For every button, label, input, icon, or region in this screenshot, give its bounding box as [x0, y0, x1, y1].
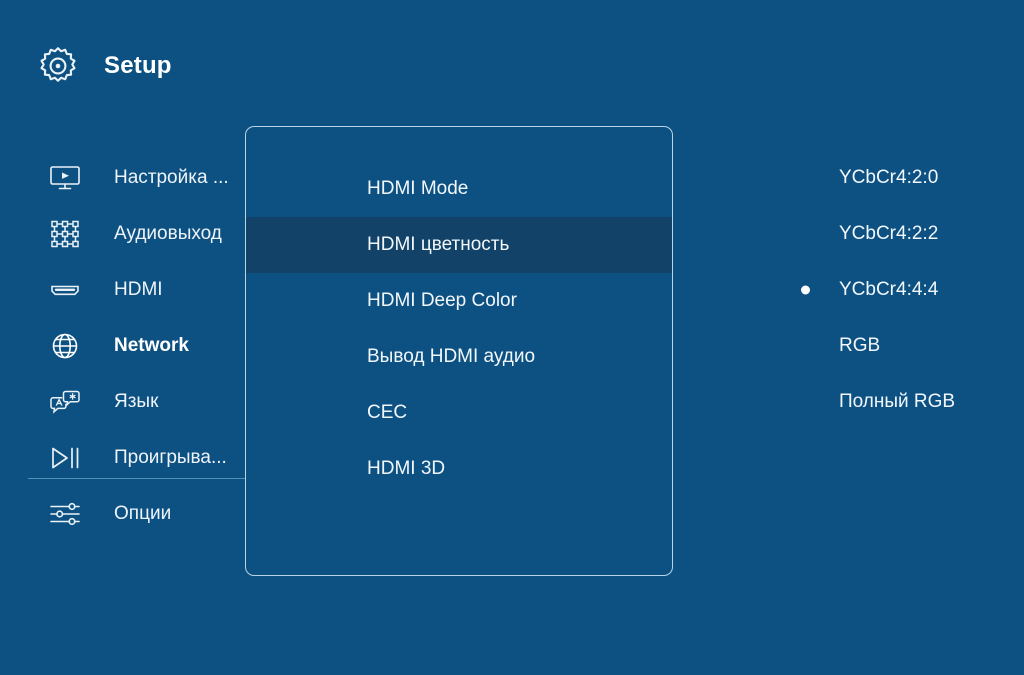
sidebar-item-label: Аудиовыход	[114, 221, 222, 247]
menu-item-cec[interactable]: CEC	[246, 385, 672, 441]
option-ycbcr-444[interactable]: YCbCr4:4:4	[673, 262, 1024, 318]
menu-item-label: HDMI Deep Color	[367, 288, 517, 314]
sidebar-item-label: Network	[114, 333, 189, 359]
sidebar-item-label: Настройка ...	[114, 165, 229, 191]
option-label: Полный RGB	[839, 389, 955, 415]
sidebar-item-label: Язык	[114, 389, 158, 415]
sidebar-item-hdmi[interactable]: HDMI	[0, 262, 246, 318]
sidebar-item-language[interactable]: Язык	[0, 374, 246, 430]
menu-item-hdmi-audio-out[interactable]: Вывод HDMI аудио	[246, 329, 672, 385]
translate-icon	[48, 387, 82, 417]
page-title: Setup	[104, 50, 172, 82]
center-menu-panel: HDMI Mode HDMI цветность HDMI Deep Color…	[245, 126, 673, 576]
menu-item-label: Вывод HDMI аудио	[367, 344, 535, 370]
menu-item-hdmi-3d[interactable]: HDMI 3D	[246, 441, 672, 497]
menu-item-label: CEC	[367, 400, 407, 426]
option-rgb[interactable]: RGB	[673, 318, 1024, 374]
menu-item-hdmi-color[interactable]: HDMI цветность	[246, 217, 672, 273]
menu-item-hdmi-deep-color[interactable]: HDMI Deep Color	[246, 273, 672, 329]
globe-icon	[48, 331, 82, 361]
options-panel: YCbCr4:2:0 YCbCr4:2:2 YCbCr4:4:4 RGB Пол…	[673, 150, 1024, 470]
hdmi-port-icon	[48, 275, 82, 305]
option-full-rgb[interactable]: Полный RGB	[673, 374, 1024, 430]
menu-item-hdmi-mode[interactable]: HDMI Mode	[246, 161, 672, 217]
sidebar-item-options[interactable]: Опции	[0, 486, 246, 542]
option-label: YCbCr4:2:0	[839, 165, 938, 191]
menu-item-label: HDMI 3D	[367, 456, 445, 482]
sidebar-item-network[interactable]: Network	[0, 318, 246, 374]
option-label: YCbCr4:2:2	[839, 221, 938, 247]
gear-icon	[34, 42, 82, 90]
radio-bullet-icon	[801, 286, 810, 295]
sidebar: Настройка ... Аудиовыход HDMI	[0, 150, 246, 580]
header: Setup	[0, 0, 1024, 130]
sidebar-item-label: HDMI	[114, 277, 163, 303]
sidebar-item-display[interactable]: Настройка ...	[0, 150, 246, 206]
option-label: RGB	[839, 333, 880, 359]
display-play-icon	[48, 163, 82, 193]
sidebar-item-playback[interactable]: Проигрыва...	[0, 430, 246, 486]
option-label: YCbCr4:4:4	[839, 277, 938, 303]
menu-item-label: HDMI цветность	[367, 232, 509, 258]
audio-matrix-icon	[48, 219, 82, 249]
option-ycbcr-420[interactable]: YCbCr4:2:0	[673, 150, 1024, 206]
setup-screen: Setup Настройка ...	[0, 0, 1024, 675]
menu-item-label: HDMI Mode	[367, 176, 468, 202]
sidebar-item-audio-output[interactable]: Аудиовыход	[0, 206, 246, 262]
option-ycbcr-422[interactable]: YCbCr4:2:2	[673, 206, 1024, 262]
play-pause-icon	[48, 443, 82, 473]
sidebar-item-label: Опции	[114, 501, 171, 527]
sidebar-item-label: Проигрыва...	[114, 445, 227, 471]
sliders-icon	[48, 499, 82, 529]
